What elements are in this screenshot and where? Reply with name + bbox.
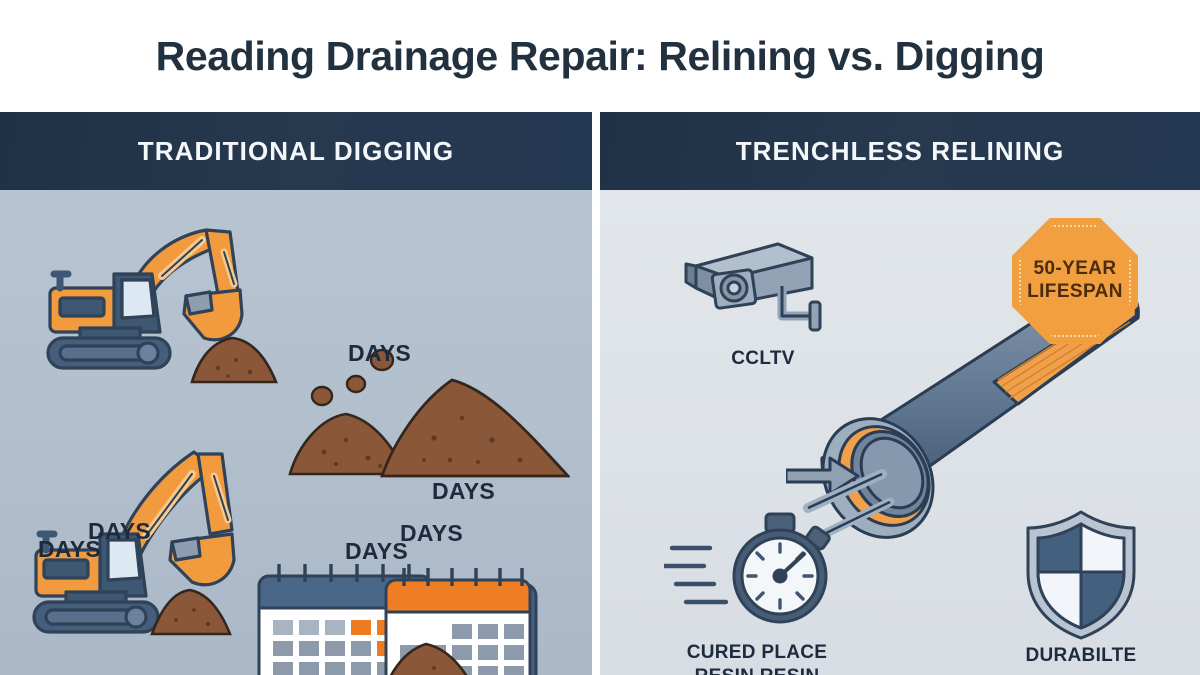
days-label: DAYS <box>345 538 408 565</box>
panel-divider <box>592 112 600 675</box>
durability-label: DURABILTE <box>998 645 1164 667</box>
page-title: Reading Drainage Repair: Relining vs. Di… <box>156 33 1045 80</box>
right-panel-body: CCLTV <box>600 190 1200 675</box>
stopwatch-icon <box>664 510 854 630</box>
left-panel-header: TRADITIONAL DIGGING <box>0 112 592 190</box>
panel-traditional-digging: TRADITIONAL DIGGING <box>0 112 592 675</box>
days-label: DAYS <box>348 340 411 367</box>
days-label: DAYS <box>38 536 101 563</box>
left-panel-heading: TRADITIONAL DIGGING <box>138 136 455 167</box>
days-label: DAYS <box>432 478 495 505</box>
dirt-pile-lower-icon <box>150 582 232 638</box>
title-band: Reading Drainage Repair: Relining vs. Di… <box>0 0 1200 112</box>
left-panel-body: DAYS DAYS DAYS DAYS DAYS DAYS <box>0 190 592 675</box>
resin-label-line-2: RESIN RESIN <box>662 666 852 675</box>
resin-label-line-1: CURED PLACE <box>662 642 852 664</box>
right-panel-heading: TRENCHLESS RELINING <box>736 136 1065 167</box>
dirt-pile-calendar-icon <box>378 636 488 675</box>
shield-icon <box>1018 508 1144 642</box>
infographic-poster: Reading Drainage Repair: Relining vs. Di… <box>0 0 1200 675</box>
badge-line-1: 50-YEAR <box>1033 258 1116 281</box>
lifespan-badge: 50-YEAR LIFESPAN <box>1012 218 1138 344</box>
days-label: DAYS <box>400 520 463 547</box>
panel-trenchless-relining: TRENCHLESS RELINING CCLTV <box>600 112 1200 675</box>
dirt-pile-small-upper-icon <box>188 330 280 386</box>
badge-line-2: LIFESPAN <box>1027 281 1123 304</box>
right-panel-header: TRENCHLESS RELINING <box>600 112 1200 190</box>
